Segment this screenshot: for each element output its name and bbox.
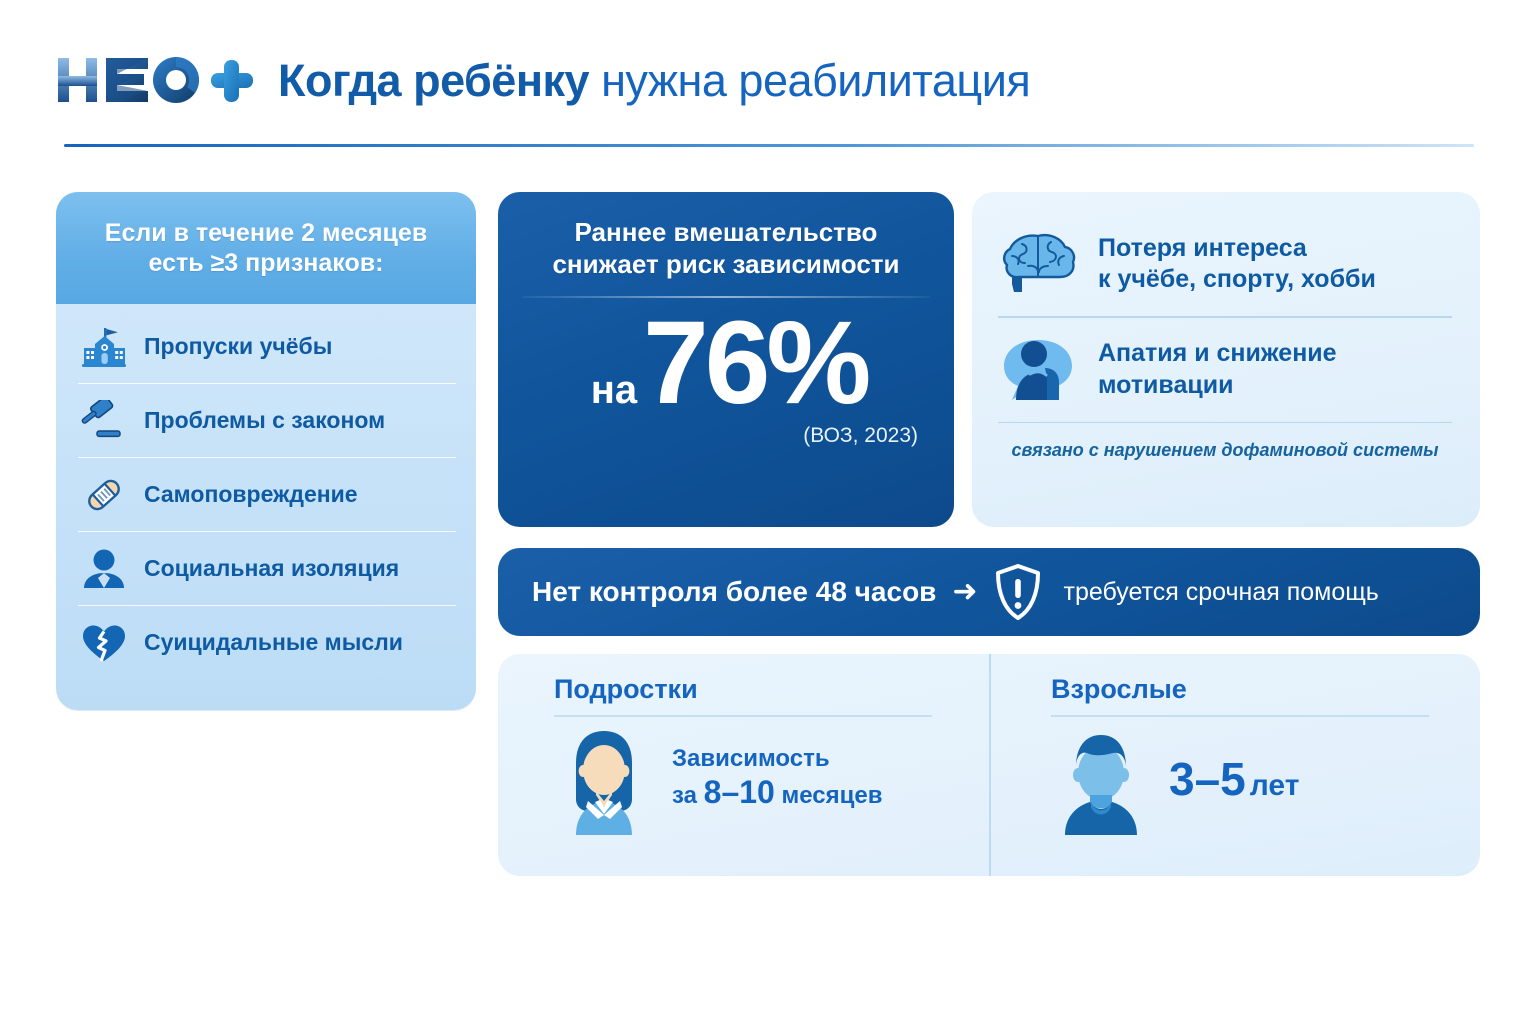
broken-heart-icon [78,620,130,666]
arrow-right-icon: ➜ [950,577,979,607]
compare-divider-adults [1051,715,1429,717]
symptom-text: Апатия и снижение мотивации [1098,338,1337,401]
compare-column-teens: Подростки [498,654,989,876]
compare-row-teens: Зависимость за 8–10 месяцев [554,723,959,835]
symptom-line1: Потеря интереса [1098,234,1307,262]
bandage-icon [78,472,130,518]
header-row: Когда ребёнку нужна реабилитация [56,44,1480,116]
symptom-line2: мотивации [1098,370,1337,401]
stat-heading-line2: снижает риск зависимости [524,249,928,281]
alert-bar: Нет контроля более 48 часов ➜ требуется … [498,548,1480,636]
signs-heading-line2: есть ≥3 признаков: [149,248,384,279]
page-title: Когда ребёнку нужна реабилитация [278,58,1030,103]
stat-value-row: на 76% [498,304,954,422]
compare-title-teens: Подростки [554,676,959,703]
gavel-icon [78,398,130,444]
list-item[interactable]: Суицидальные мысли [78,606,456,680]
compare-unit-adults: лет [1246,769,1300,802]
list-item[interactable]: Пропуски учёбы [78,310,456,384]
stat-value: 76% [643,304,867,422]
brain-icon [996,226,1080,302]
neo-plus-logo [56,53,256,107]
page-title-light: нужна реабилитация [601,55,1030,106]
signs-card-header: Если в течение 2 месяцев есть ≥3 признак… [56,192,476,304]
symptom-row[interactable]: Апатия и снижение мотивации [996,318,1454,422]
compare-card: Подростки [498,654,1480,876]
symptoms-note: связано с нарушением дофаминовой системы [996,423,1454,461]
alert-light-text: требуется срочная помощь [1056,580,1379,605]
apathy-person-icon [996,332,1080,408]
signs-list: Пропуски учёбы Проблемы с законом [56,304,476,690]
compare-column-adults: Взрослые 3–5лет [989,654,1480,876]
compare-divider-teens [554,715,932,717]
stat-heading: Раннее вмешательство снижает риск зависи… [498,192,954,280]
stat-prefix: на [591,370,637,410]
signs-heading-line1: Если в течение 2 месяцев [105,218,427,249]
symptom-text: Потеря интереса к учёбе, спорту, хобби [1098,233,1376,296]
school-icon [78,324,130,370]
compare-row-adults: 3–5лет [1051,723,1450,835]
page-header: Когда ребёнку нужна реабилитация [56,44,1480,156]
compare-line2-teens: за 8–10 месяцев [672,774,883,812]
list-item-label: Социальная изоляция [144,556,399,581]
stat-card: Раннее вмешательство снижает риск зависи… [498,192,954,527]
stat-heading-line1: Раннее вмешательство [524,217,928,249]
page-title-strong: Когда ребёнку [278,55,589,106]
teen-girl-avatar [554,723,654,835]
compare-text-teens: Зависимость за 8–10 месяцев [672,745,883,811]
symptom-line1: Апатия и снижение [1098,339,1337,367]
list-item-label: Суицидальные мысли [144,630,403,655]
list-item[interactable]: Социальная изоляция [78,532,456,606]
compare-value-adults: 3–5лет [1169,756,1299,802]
symptom-row[interactable]: Потеря интереса к учёбе, спорту, хобби [996,212,1454,316]
list-item[interactable]: Проблемы с законом [78,384,456,458]
signs-card: Если в течение 2 месяцев есть ≥3 признак… [56,192,476,710]
alert-strong-text: Нет контроля более 48 часов [532,578,936,606]
shield-alert-icon [994,564,1042,620]
compare-line1-teens: Зависимость [672,745,883,773]
header-divider [64,144,1474,147]
infographic-page: Когда ребёнку нужна реабилитация Если в … [0,0,1536,1024]
list-item-label: Пропуски учёбы [144,334,332,359]
list-item-label: Самоповреждение [144,482,358,507]
person-icon [78,546,130,592]
list-item[interactable]: Самоповреждение [78,458,456,532]
compare-number-teens: 8–10 [704,774,775,810]
compare-prefix-teens: за [672,782,704,809]
symptoms-card: Потеря интереса к учёбе, спорту, хобби [972,192,1480,527]
adult-man-avatar [1051,723,1151,835]
list-item-label: Проблемы с законом [144,408,385,433]
compare-number-adults: 3–5 [1169,753,1246,805]
symptom-line2: к учёбе, спорту, хобби [1098,264,1376,295]
compare-suffix-teens: месяцев [775,782,883,809]
symptoms-body: Потеря интереса к учёбе, спорту, хобби [972,192,1480,461]
compare-title-adults: Взрослые [1051,676,1450,703]
